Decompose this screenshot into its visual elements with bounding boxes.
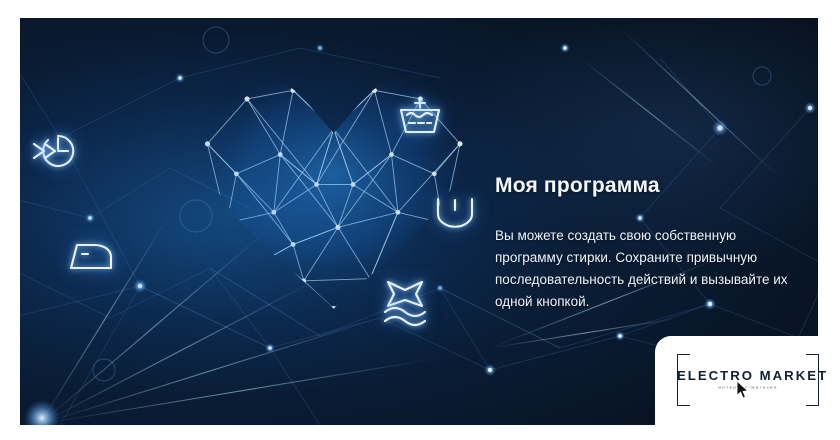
drum-icon — [434, 196, 476, 226]
wash-basin-plus-icon — [398, 96, 442, 138]
screenshot-canvas: Моя программа Вы можете создать свою соб… — [0, 0, 840, 440]
iron-icon — [64, 240, 116, 274]
mouse-pointer — [736, 380, 750, 400]
delay-start-icon — [32, 130, 84, 172]
promo-description: Вы можете создать свою собственную прогр… — [495, 225, 805, 313]
page-title: Моя программа — [495, 174, 805, 198]
promo-text-block: Моя программа Вы можете создать свою соб… — [495, 174, 805, 313]
delicate-fabric-icon — [378, 276, 432, 328]
